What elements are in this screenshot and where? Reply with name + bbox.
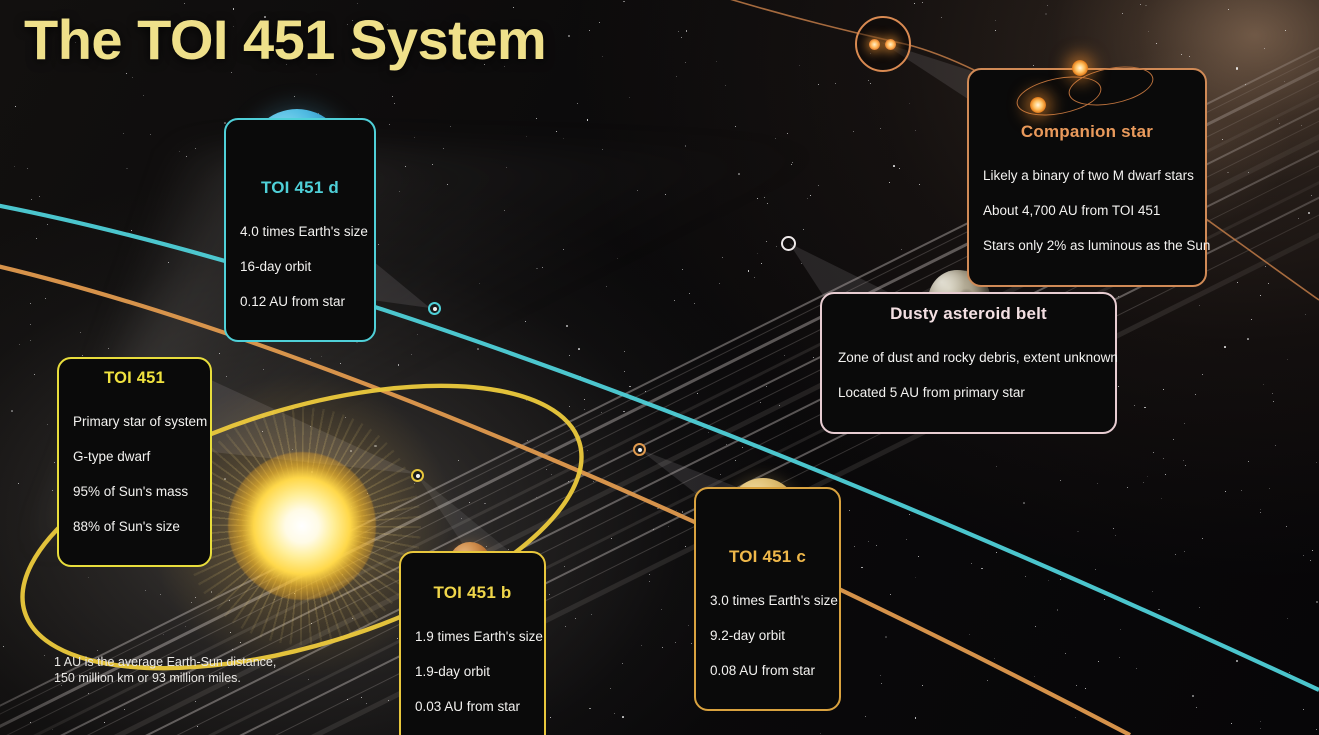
orbit-marker-planet-b[interactable] (411, 469, 424, 482)
card-lines-planet-d: 4.0 times Earth's size 16-day orbit 0.12… (240, 205, 360, 328)
card-title-planet-c: TOI 451 c (710, 547, 825, 567)
card-title-planet-b: TOI 451 b (415, 583, 530, 603)
card-lines-planet-b: 1.9 times Earth's size 1.9-day orbit 0.0… (415, 610, 530, 733)
yellow-star-icon (228, 452, 376, 600)
binary-star-a-icon (1072, 60, 1088, 76)
orbit-marker-asteroid-belt[interactable] (781, 236, 796, 251)
binary-star-icon[interactable] (855, 16, 911, 72)
callout-card-planet-c[interactable]: TOI 451 c 3.0 times Earth's size 9.2-day… (694, 487, 841, 711)
page-title: The TOI 451 System (24, 7, 546, 72)
binary-star-b-icon (1030, 97, 1046, 113)
callout-card-primary-star[interactable]: TOI 451 Primary star of system G-type dw… (57, 357, 212, 567)
card-title-primary-star: TOI 451 (73, 369, 196, 388)
card-title-asteroid-belt: Dusty asteroid belt (838, 304, 1099, 324)
orbit-marker-planet-c[interactable] (633, 443, 646, 456)
card-title-companion-star: Companion star (983, 122, 1191, 142)
companion-star-dot-b (885, 39, 896, 50)
infographic-canvas: The TOI 451 System TOI 451 d 4.0 times E… (0, 0, 1319, 735)
callout-card-planet-d[interactable]: TOI 451 d 4.0 times Earth's size 16-day … (224, 118, 376, 342)
card-title-planet-d: TOI 451 d (240, 178, 360, 198)
callout-card-asteroid-belt[interactable]: Dusty asteroid belt Zone of dust and roc… (820, 292, 1117, 434)
card-lines-primary-star: Primary star of system G-type dwarf 95% … (73, 395, 196, 553)
card-lines-asteroid-belt: Zone of dust and rocky debris, extent un… (838, 331, 1099, 419)
companion-star-dot-a (869, 39, 880, 50)
au-footnote: 1 AU is the average Earth-Sun distance, … (54, 654, 276, 686)
binary-star-orbit-diagram (1012, 62, 1162, 120)
callout-card-planet-b[interactable]: TOI 451 b 1.9 times Earth's size 1.9-day… (399, 551, 546, 735)
orbit-marker-planet-d[interactable] (428, 302, 441, 315)
card-lines-planet-c: 3.0 times Earth's size 9.2-day orbit 0.0… (710, 574, 825, 697)
card-lines-companion-star: Likely a binary of two M dwarf stars Abo… (983, 149, 1191, 272)
